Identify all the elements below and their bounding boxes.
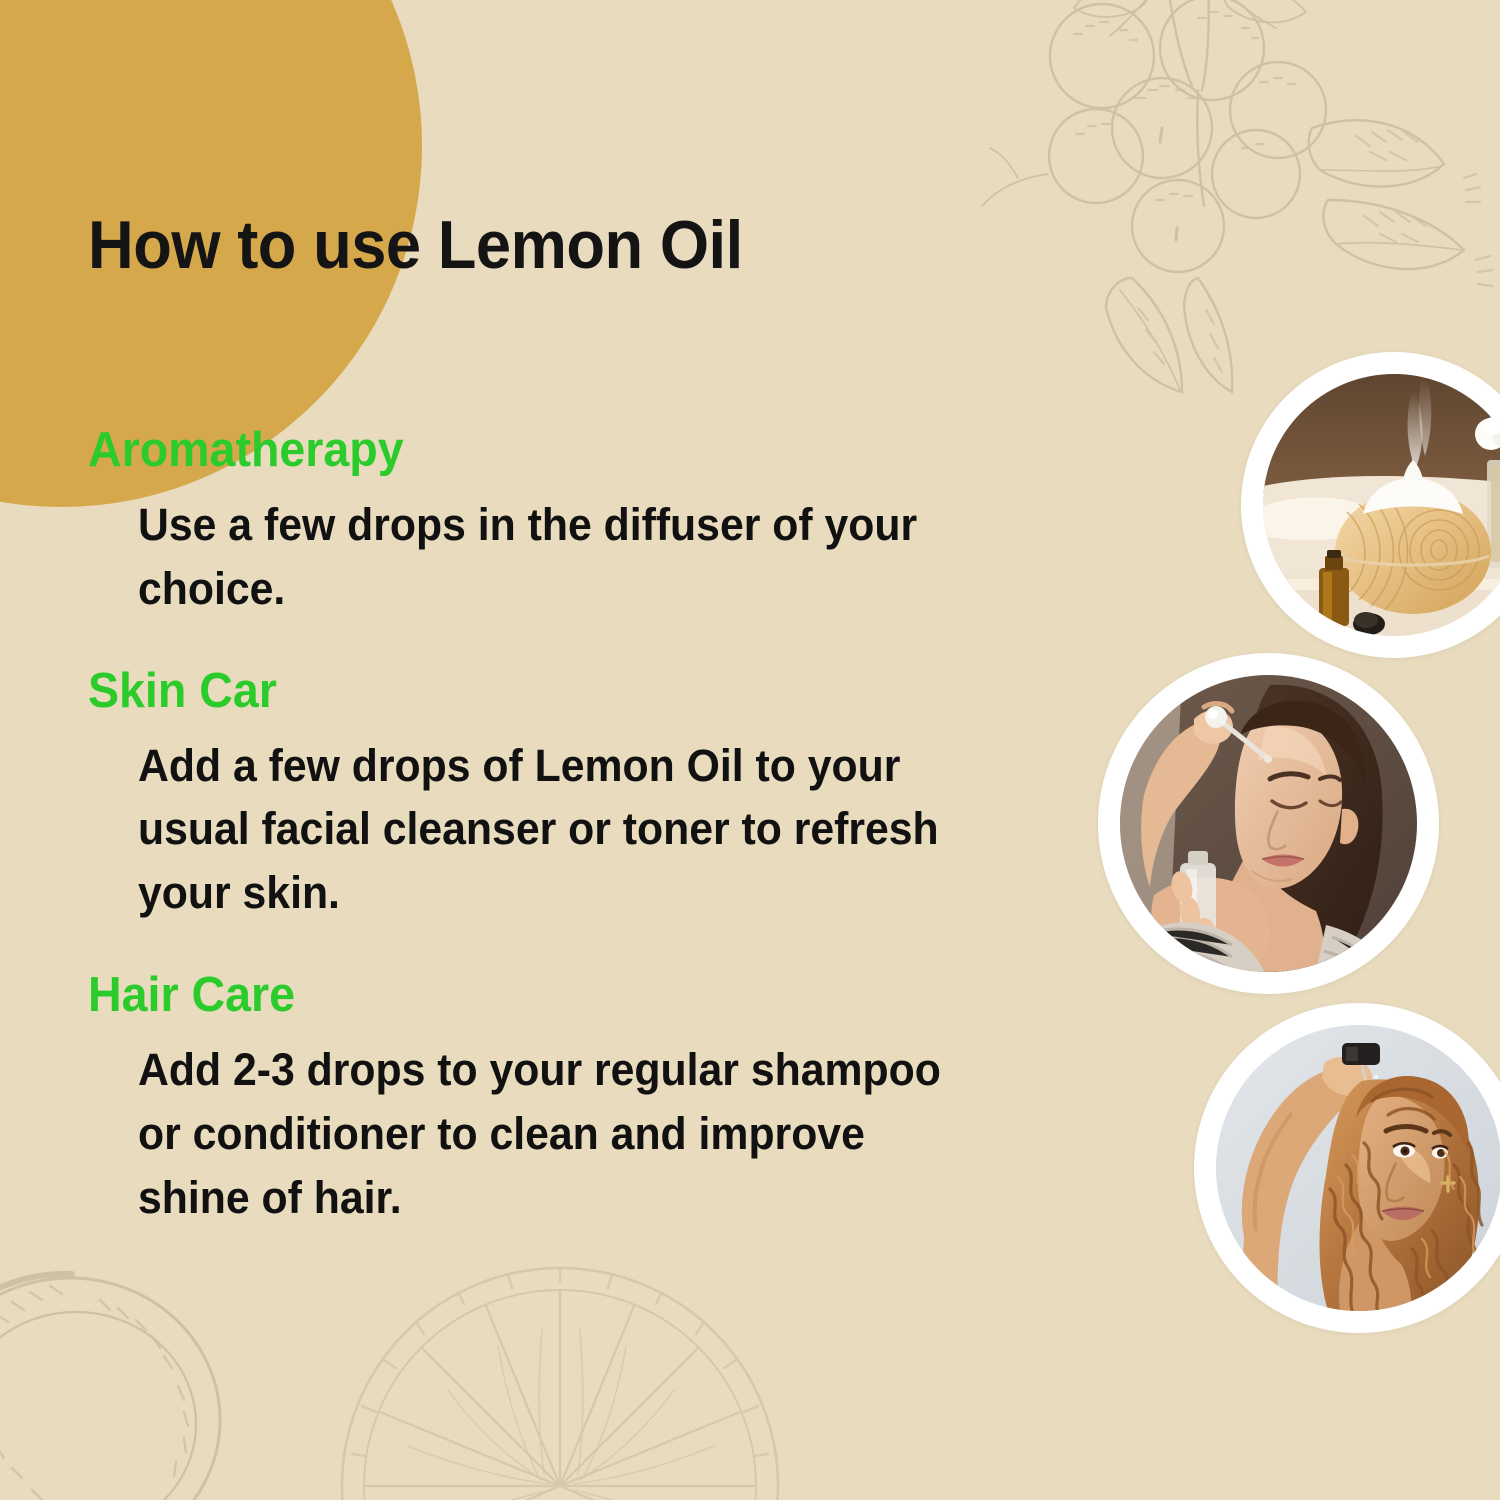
section-body: Add 2-3 drops to your regular shampoo or… bbox=[138, 1038, 946, 1230]
infographic-canvas: How to use Lemon Oil Aromatherapy Use a … bbox=[0, 0, 1500, 1500]
section-hair-care: Hair Care Add 2-3 drops to your regular … bbox=[88, 969, 1018, 1230]
section-heading: Skin Car bbox=[88, 665, 972, 718]
page-title: How to use Lemon Oil bbox=[88, 206, 743, 284]
hair-care-photo bbox=[1194, 1003, 1500, 1333]
section-body: Use a few drops in the diffuser of your … bbox=[138, 493, 946, 621]
usage-sections: Aromatherapy Use a few drops in the diff… bbox=[88, 424, 1018, 1230]
skin-care-photo-image bbox=[1120, 675, 1417, 972]
section-aromatherapy: Aromatherapy Use a few drops in the diff… bbox=[88, 424, 1018, 621]
section-heading: Hair Care bbox=[88, 969, 972, 1022]
lemon-slice-sketch bbox=[330, 1230, 790, 1500]
diffuser-photo bbox=[1241, 352, 1500, 658]
section-skin-care: Skin Car Add a few drops of Lemon Oil to… bbox=[88, 665, 1018, 926]
section-heading: Aromatherapy bbox=[88, 424, 972, 477]
hair-care-photo-image bbox=[1216, 1025, 1500, 1311]
skin-care-photo bbox=[1098, 653, 1439, 994]
whole-lemon-sketch bbox=[0, 1240, 300, 1500]
diffuser-photo-image bbox=[1263, 374, 1500, 636]
section-body: Add a few drops of Lemon Oil to your usu… bbox=[138, 734, 946, 926]
